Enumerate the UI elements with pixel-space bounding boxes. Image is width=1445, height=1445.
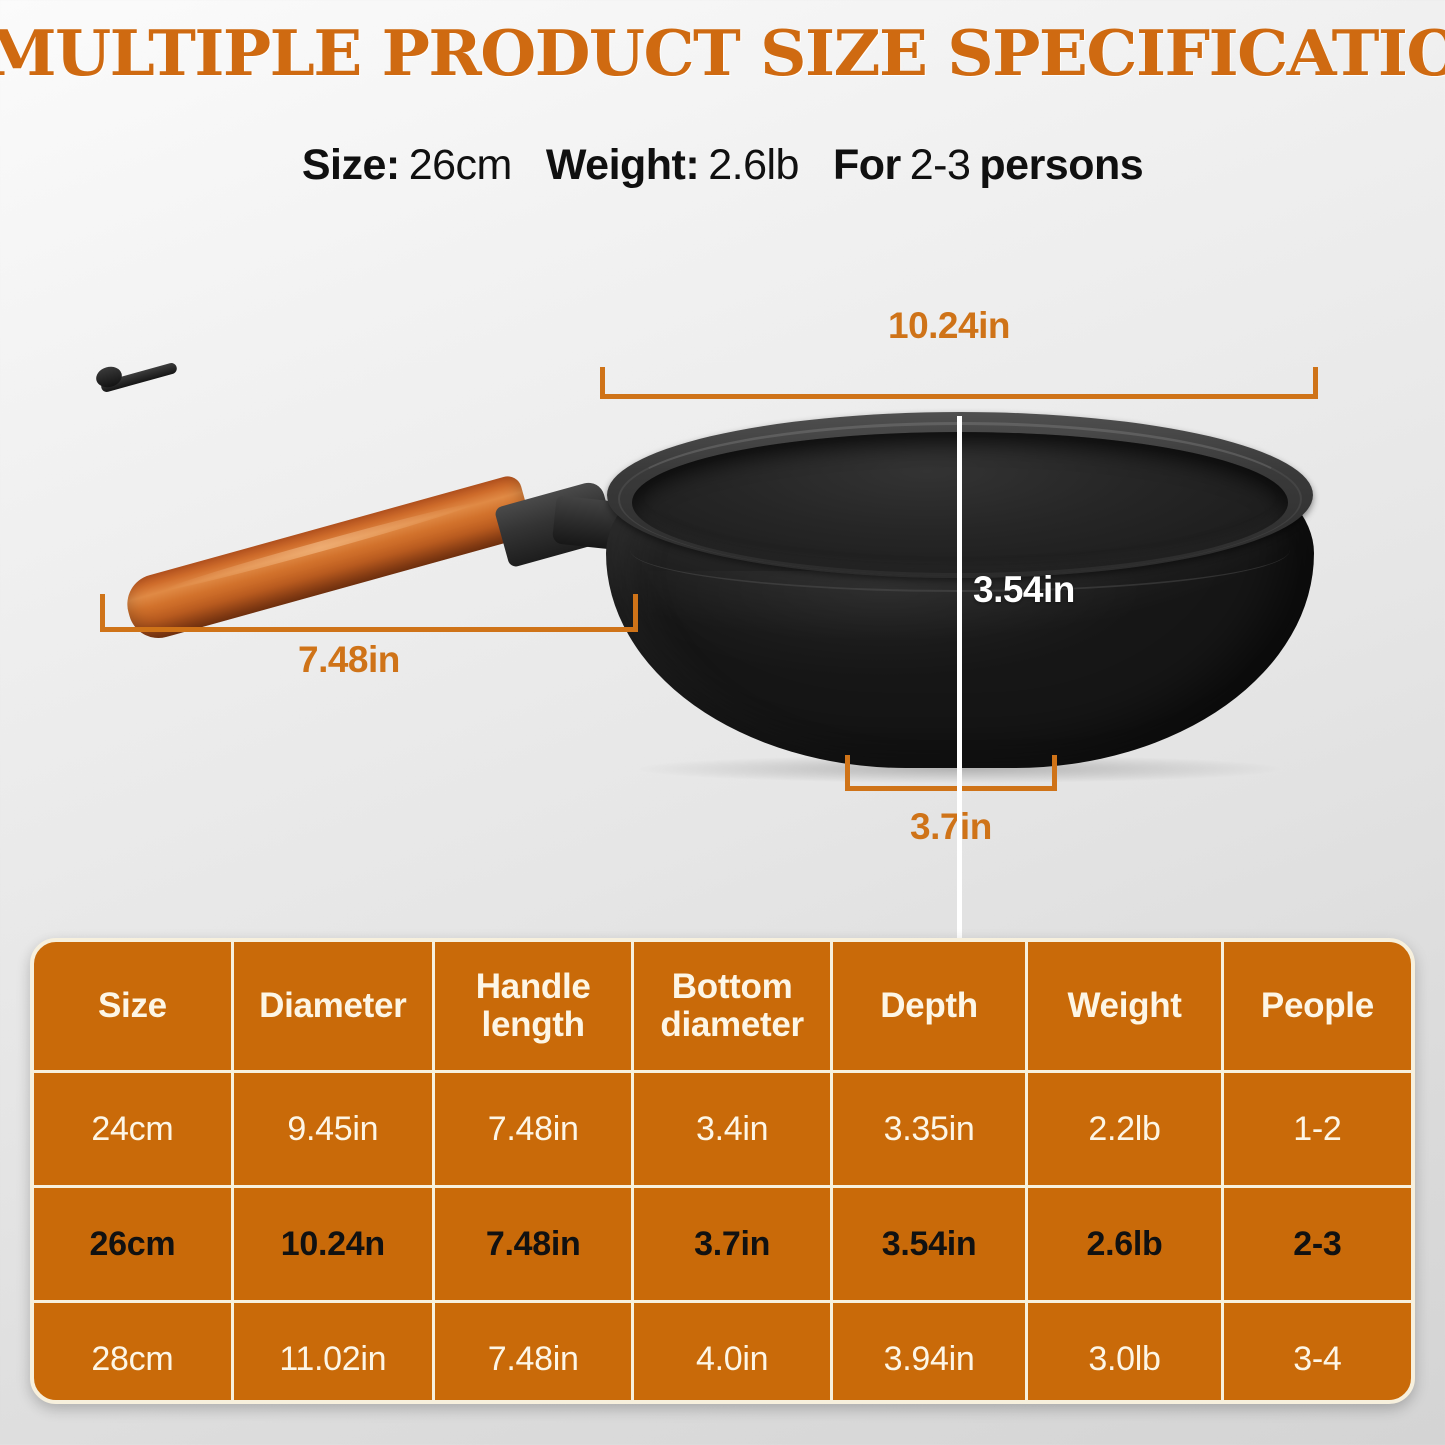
table-row: 28cm 11.02in 7.48in 4.0in 3.94in 3.0lb 3… [34,1302,1411,1405]
dimension-label-top-width: 10.24in [888,305,1010,347]
depth-measurement-line-icon [957,416,962,983]
persons-label: persons [979,141,1143,189]
cell-people: 2-3 [1222,1187,1411,1302]
column-header-bottom-line1: Bottom [672,967,793,1006]
column-header-diameter-line1: Diameter [259,986,406,1025]
column-header-handle-length: Handle length [433,942,633,1072]
column-header-handle-line2: length [482,1005,585,1044]
handle-length-bracket-icon [100,594,638,632]
dimension-label-depth: 3.54in [973,569,1075,611]
dimension-label-bottom-diameter: 3.7in [910,806,992,848]
table-row: 24cm 9.45in 7.48in 3.4in 3.35in 2.2lb 1-… [34,1072,1411,1187]
table-row: 26cm 10.24n 7.48in 3.7in 3.54in 2.6lb 2-… [34,1187,1411,1302]
cell-bottom-diameter: 3.7in [633,1187,831,1302]
page-title: MULTIPLE PRODUCT SIZE SPECIFICATIONS [0,16,1445,90]
column-header-people-line1: People [1261,986,1374,1025]
column-header-diameter: Diameter [232,942,433,1072]
weight-value: 2.6lb [708,141,799,189]
cell-weight: 2.2lb [1027,1072,1223,1187]
cell-bottom-diameter: 4.0in [633,1302,831,1405]
cell-depth: 3.35in [831,1072,1027,1187]
cell-diameter: 9.45in [232,1072,433,1187]
cell-diameter: 11.02in [232,1302,433,1405]
column-header-bottom-line2: diameter [660,1005,804,1044]
cell-people: 3-4 [1222,1302,1411,1405]
size-label: Size: [302,141,400,189]
cell-weight: 3.0lb [1027,1302,1223,1405]
subtitle-summary: Size:26cmWeight:2.6lbFor2-3persons [0,141,1445,190]
column-header-depth: Depth [831,942,1027,1072]
cell-bottom-diameter: 3.4in [633,1072,831,1187]
table-header-row: Size Diameter Handle length Bottom diame… [34,942,1411,1072]
cell-weight: 2.6lb [1027,1187,1223,1302]
cell-handle-length: 7.48in [433,1302,633,1405]
column-header-weight: Weight [1027,942,1223,1072]
bottom-diameter-bracket-icon [845,755,1057,791]
specification-table: Size Diameter Handle length Bottom diame… [30,938,1415,1404]
column-header-people: People [1222,942,1411,1072]
column-header-size-line1: Size [98,986,167,1025]
product-diagram: 10.24in 7.48in 3.7in 3.54in [0,250,1445,890]
cell-diameter: 10.24n [232,1187,433,1302]
column-header-bottom-diameter: Bottom diameter [633,942,831,1072]
size-value: 26cm [409,141,512,189]
people-value: 2-3 [910,141,971,189]
cell-size: 26cm [34,1187,232,1302]
column-header-size: Size [34,942,232,1072]
weight-label: Weight: [546,141,699,189]
column-header-weight-line1: Weight [1067,986,1181,1025]
cell-size: 28cm [34,1302,232,1405]
column-header-handle-line1: Handle [476,967,591,1006]
table-body: 24cm 9.45in 7.48in 3.4in 3.35in 2.2lb 1-… [34,1072,1411,1405]
wok-handle-assembly [78,360,658,590]
cell-depth: 3.94in [831,1302,1027,1405]
cell-depth: 3.54in [831,1187,1027,1302]
top-width-bracket-bar [600,394,1318,399]
column-header-depth-line1: Depth [880,986,978,1025]
cell-people: 1-2 [1222,1072,1411,1187]
cell-handle-length: 7.48in [433,1072,633,1187]
cell-size: 24cm [34,1072,232,1187]
table-header: Size Diameter Handle length Bottom diame… [34,942,1411,1072]
dimension-label-handle-length: 7.48in [298,639,400,681]
spec-table: Size Diameter Handle length Bottom diame… [34,942,1411,1404]
cell-handle-length: 7.48in [433,1187,633,1302]
for-label: For [833,141,901,189]
